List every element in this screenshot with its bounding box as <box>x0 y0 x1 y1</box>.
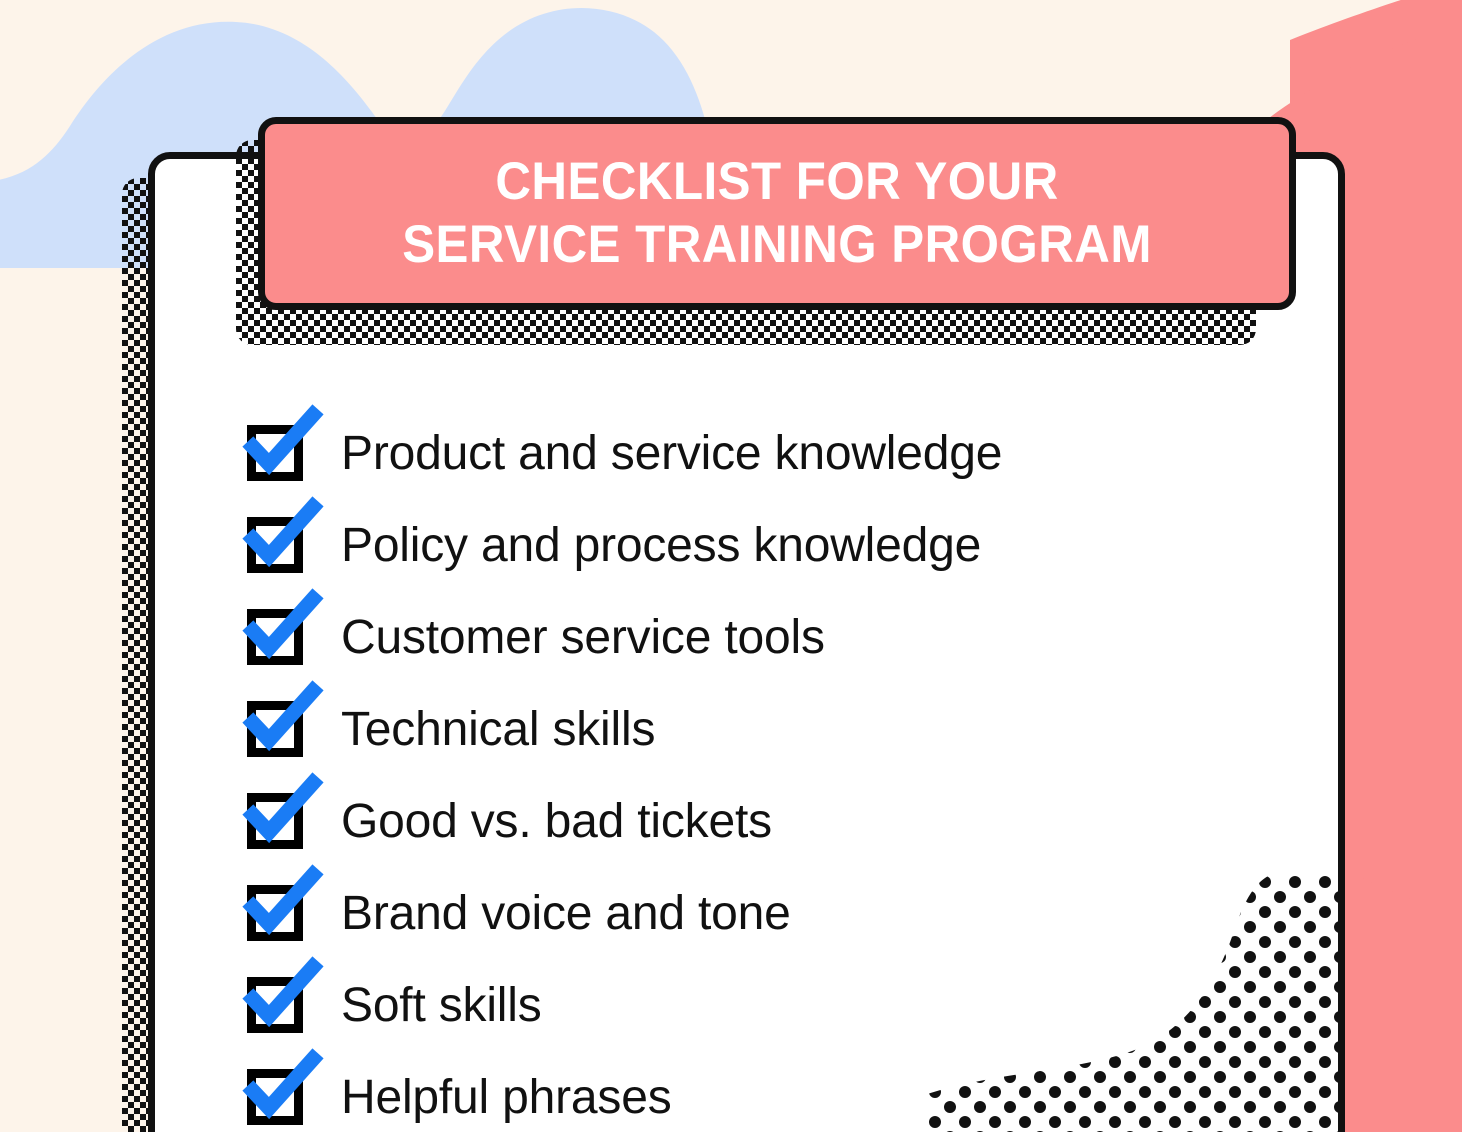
list-item-label: Customer service tools <box>341 610 825 665</box>
title-banner: CHECKLIST FOR YOUR SERVICE TRAINING PROG… <box>258 117 1296 310</box>
list-item[interactable]: Policy and process knowledge <box>247 499 1247 591</box>
list-item-label: Helpful phrases <box>341 1070 672 1125</box>
list-item[interactable]: Customer service tools <box>247 591 1247 683</box>
checkbox-checked[interactable] <box>247 885 303 941</box>
check-icon <box>243 683 319 759</box>
checkbox-checked[interactable] <box>247 609 303 665</box>
list-item[interactable]: Helpful phrases <box>247 1051 1247 1132</box>
checklist-items: Product and service knowledge Policy and… <box>247 407 1247 1132</box>
check-icon <box>243 867 319 943</box>
checkbox-checked[interactable] <box>247 425 303 481</box>
checkbox-checked[interactable] <box>247 793 303 849</box>
checkbox-checked[interactable] <box>247 701 303 757</box>
list-item[interactable]: Soft skills <box>247 959 1247 1051</box>
list-item-label: Good vs. bad tickets <box>341 794 772 849</box>
list-item-label: Soft skills <box>341 978 542 1033</box>
check-icon <box>243 591 319 667</box>
list-item-label: Technical skills <box>341 702 655 757</box>
check-icon <box>243 775 319 851</box>
check-icon <box>243 407 319 483</box>
page-title: CHECKLIST FOR YOUR SERVICE TRAINING PROG… <box>380 151 1174 276</box>
checkbox-checked[interactable] <box>247 517 303 573</box>
checklist-poster: Product and service knowledge Policy and… <box>0 0 1462 1132</box>
check-icon <box>243 959 319 1035</box>
check-icon <box>243 1051 319 1127</box>
list-item[interactable]: Brand voice and tone <box>247 867 1247 959</box>
checkbox-checked[interactable] <box>247 977 303 1033</box>
list-item[interactable]: Product and service knowledge <box>247 407 1247 499</box>
list-item[interactable]: Good vs. bad tickets <box>247 775 1247 867</box>
check-icon <box>243 499 319 575</box>
list-item-label: Policy and process knowledge <box>341 518 981 573</box>
list-item-label: Brand voice and tone <box>341 886 791 941</box>
list-item[interactable]: Technical skills <box>247 683 1247 775</box>
list-item-label: Product and service knowledge <box>341 426 1002 481</box>
checkbox-checked[interactable] <box>247 1069 303 1125</box>
